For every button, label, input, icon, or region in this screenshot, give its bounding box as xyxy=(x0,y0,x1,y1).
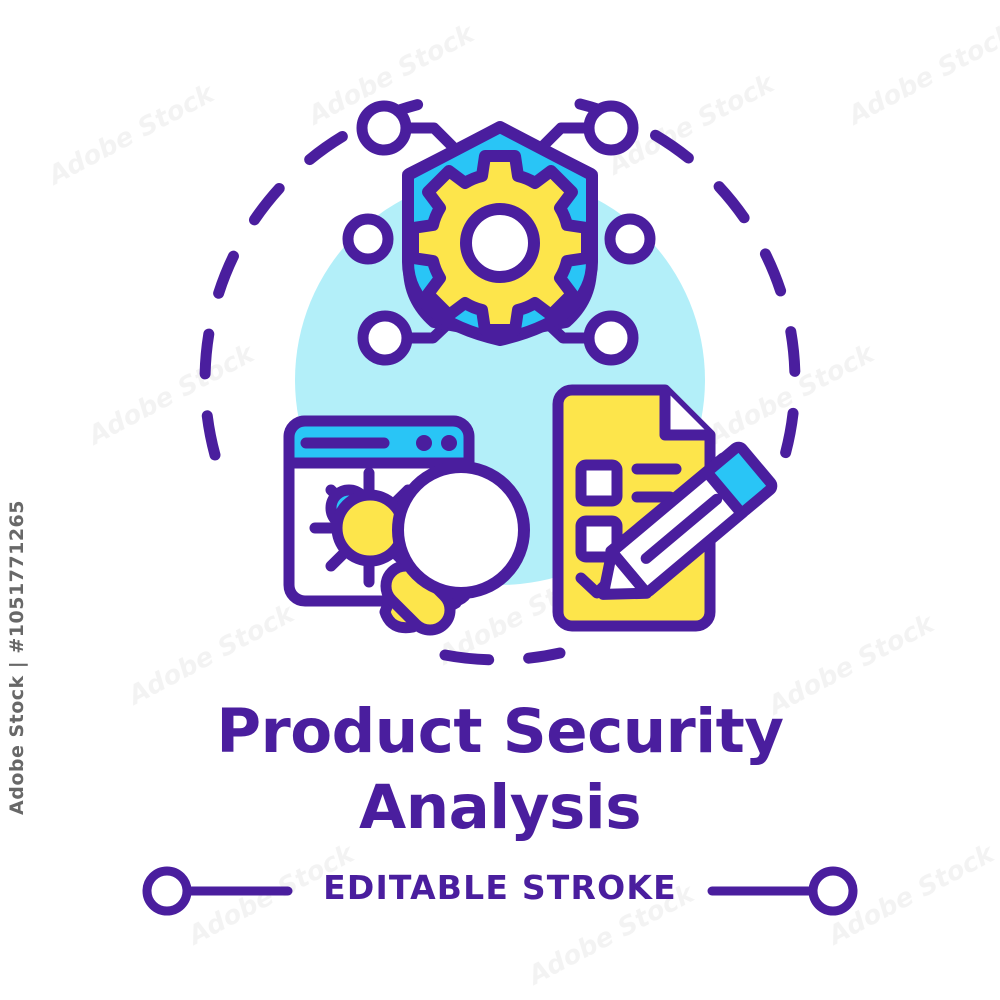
gear-icon xyxy=(413,156,587,330)
browser-dot xyxy=(416,435,432,451)
stock-watermark-text: Adobe Stock | #1051771265 xyxy=(6,500,28,815)
node-top-right xyxy=(543,106,633,150)
magnifier-lens xyxy=(398,467,524,593)
document-checkbox xyxy=(581,465,617,501)
gear-hub xyxy=(466,209,534,277)
shield-with-gear xyxy=(408,127,592,340)
editable-stroke-bar: EDITABLE STROKE xyxy=(0,862,1000,920)
concept-illustration xyxy=(0,0,1000,1000)
node-mid-left xyxy=(348,219,388,259)
editable-stroke-label: EDITABLE STROKE xyxy=(0,862,1000,914)
node-mid-right xyxy=(610,219,650,259)
illustration-canvas: Adobe Stock Adobe Stock Adobe Stock Adob… xyxy=(0,0,1000,1000)
browser-dot xyxy=(441,435,457,451)
